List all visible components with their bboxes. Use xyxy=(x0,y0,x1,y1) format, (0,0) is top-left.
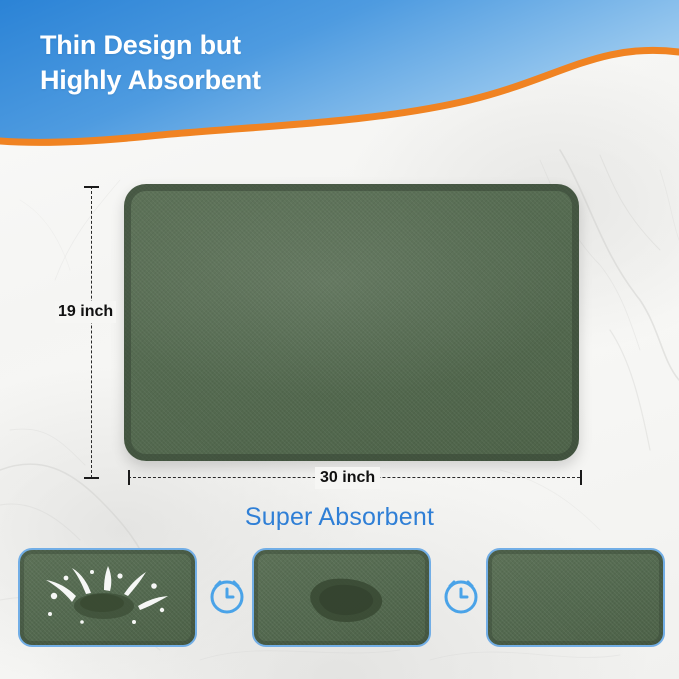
sequence-tile-splash xyxy=(18,548,197,647)
absorbency-sequence xyxy=(0,548,679,658)
header-banner: Thin Design but Highly Absorbent xyxy=(0,0,679,170)
clock-icon xyxy=(441,576,481,616)
water-stain-icon xyxy=(299,574,389,626)
height-guide-cap-top xyxy=(84,186,99,188)
height-guide-line xyxy=(91,186,92,478)
headline-text: Thin Design but Highly Absorbent xyxy=(40,28,261,97)
water-splash-icon xyxy=(42,566,172,630)
width-guide-cap-left xyxy=(128,470,130,485)
width-guide-cap-right xyxy=(580,470,582,485)
height-guide-cap-bottom xyxy=(84,477,99,479)
product-infographic: Thin Design but Highly Absorbent 19 inch… xyxy=(0,0,679,679)
super-absorbent-caption: Super Absorbent xyxy=(0,503,679,532)
product-mat-main xyxy=(124,184,579,461)
sequence-tile-absorbed xyxy=(252,548,431,647)
sequence-tile-dry xyxy=(486,548,665,647)
clock-icon xyxy=(207,576,247,616)
height-label: 19 inch xyxy=(55,301,116,323)
width-label: 30 inch xyxy=(315,467,380,489)
